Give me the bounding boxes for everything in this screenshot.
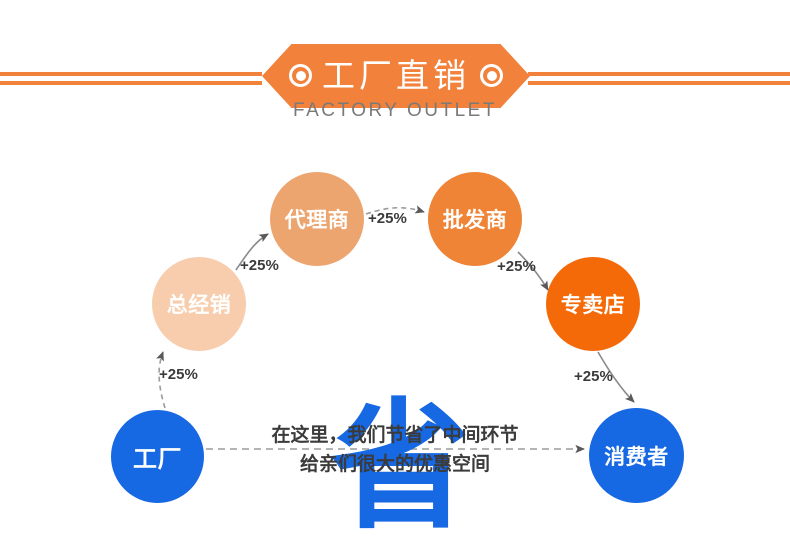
tagline: 在这里，我们节省了中间环节 给亲们很大的优惠空间 xyxy=(225,421,565,479)
tagline-line-1: 在这里，我们节省了中间环节 xyxy=(225,421,565,450)
banner-title: 工厂直销 xyxy=(262,48,530,104)
markup-label-factory-to-general-agent: +25% xyxy=(159,366,198,383)
markup-label-general-agent-to-agent: +25% xyxy=(240,257,279,274)
markup-label-agent-to-wholesaler: +25% xyxy=(368,210,407,227)
header-rule-left-bottom xyxy=(0,81,262,85)
header-rule-right-top xyxy=(528,72,790,76)
node-agent[interactable]: 代理商 xyxy=(270,172,364,266)
tagline-line-2: 给亲们很大的优惠空间 xyxy=(225,450,565,479)
header-rule-right-bottom xyxy=(528,81,790,85)
markup-label-wholesaler-to-store: +25% xyxy=(497,258,536,275)
header-rule-left-top xyxy=(0,72,262,76)
header-banner: 工厂直销 FACTORY OUTLET xyxy=(0,0,790,140)
node-factory[interactable]: 工厂 xyxy=(111,410,204,503)
node-consumer[interactable]: 消费者 xyxy=(589,408,684,503)
infographic-page: 工厂直销 FACTORY OUTLET 省 xyxy=(0,0,790,549)
node-wholesaler[interactable]: 批发商 xyxy=(428,172,522,266)
node-general-agent[interactable]: 总经销 xyxy=(152,257,246,351)
node-store[interactable]: 专卖店 xyxy=(546,257,640,351)
markup-label-store-to-consumer: +25% xyxy=(574,368,613,385)
distribution-chain-diagram: 省 在这里，我们节省了中间环节 给亲们很大的优惠空间 工厂 总经销 代理商 批发… xyxy=(0,140,790,549)
banner-subtitle: FACTORY OUTLET xyxy=(0,100,790,122)
